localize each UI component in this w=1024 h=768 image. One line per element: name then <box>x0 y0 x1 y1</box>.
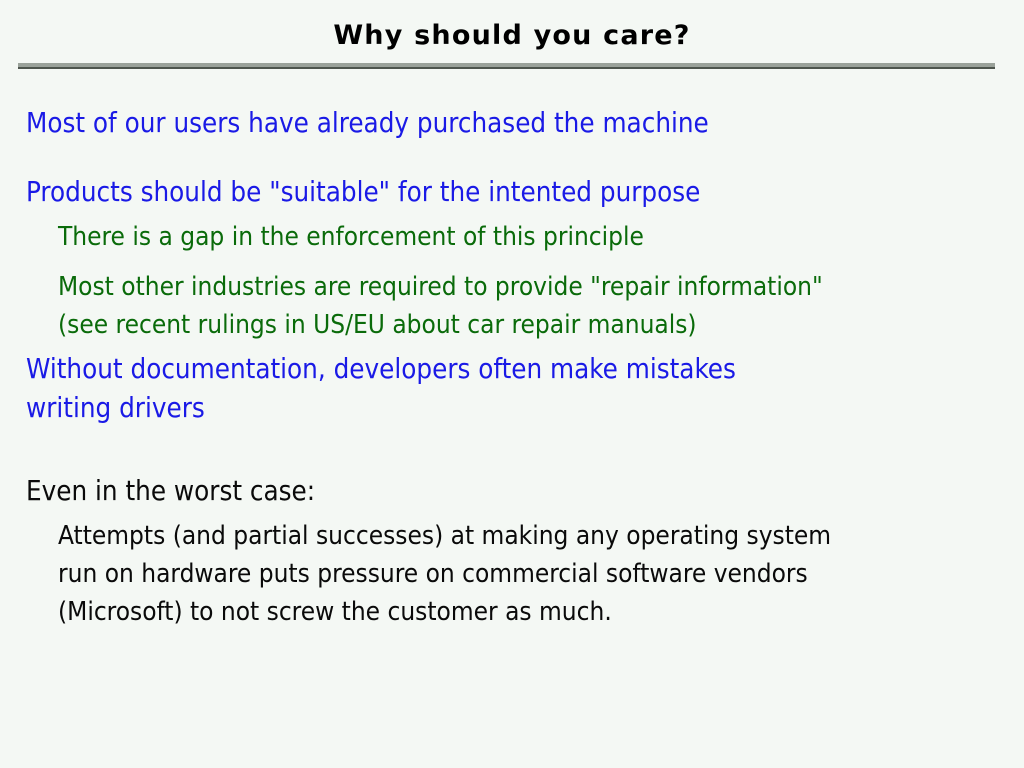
bullet-products-should-be-suitable: Products should be "suitable" for the in… <box>26 173 1024 212</box>
bullet-even-in-the-worst-case: Even in the worst case: <box>26 472 1024 511</box>
bullet-attempts-partial-successes: Attempts (and partial successes) at maki… <box>58 517 1024 631</box>
bullet-without-documentation: Without documentation, developers often … <box>26 350 1024 428</box>
slide-body: Most of our users have already purchased… <box>0 104 1024 631</box>
spacer <box>0 143 1024 173</box>
bullet-repair-information: Most other industries are required to pr… <box>58 268 1024 344</box>
bullet-most-of-our-users: Most of our users have already purchased… <box>26 104 1024 143</box>
spacer <box>0 428 1024 472</box>
title-divider-rule <box>18 63 995 69</box>
page-title: Why should you care? <box>0 20 1024 52</box>
divider-band-dark <box>18 67 995 69</box>
spacer <box>0 256 1024 268</box>
presentation-slide: Why should you care? Most of our users h… <box>0 0 1024 768</box>
bullet-gap-in-enforcement: There is a gap in the enforcement of thi… <box>58 218 1024 256</box>
